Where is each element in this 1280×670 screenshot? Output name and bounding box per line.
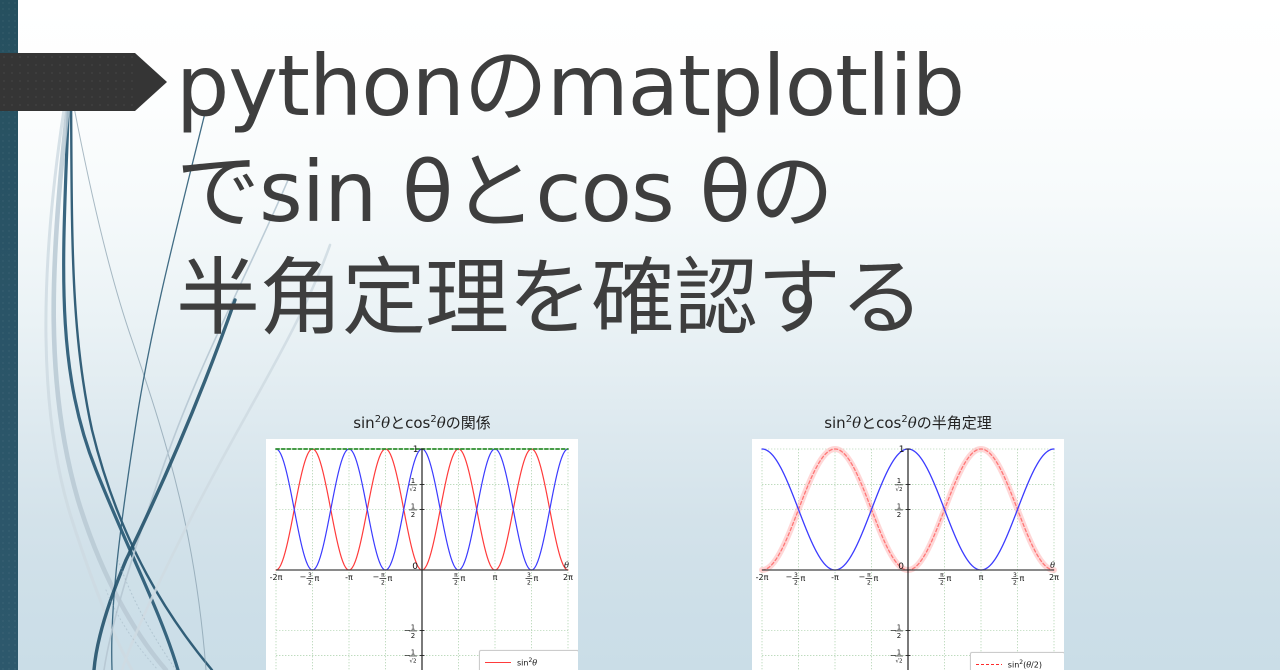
chart-2-title-text: sin2θとcos2θの半角定理	[824, 414, 992, 432]
svg-text:2: 2	[411, 632, 415, 640]
svg-text:1: 1	[411, 648, 415, 656]
svg-text:1: 1	[411, 623, 415, 631]
svg-text:3: 3	[527, 572, 531, 579]
svg-text:2: 2	[897, 511, 901, 519]
svg-text:0: 0	[412, 562, 418, 572]
legend-label-sin2-half: sin2(θ/2)	[1008, 659, 1042, 670]
page-title-line-2: でsin θとcos θの	[176, 140, 1206, 246]
svg-text:1: 1	[411, 477, 415, 485]
svg-text:π: π	[454, 572, 458, 579]
page-title: pythonのmatplotlib でsin θとcos θの 半角定理を確認す…	[176, 34, 1206, 351]
svg-text:√2: √2	[895, 657, 902, 664]
svg-text:1: 1	[897, 477, 901, 485]
chart-1-plot-area: -2π−32π-π−π2ππ2ππ32π2π-1−1√2−120121√21θ …	[266, 439, 578, 670]
svg-text:2: 2	[411, 511, 415, 519]
svg-text:-π: -π	[831, 573, 839, 582]
svg-text:π: π	[873, 574, 878, 583]
svg-text:−: −	[785, 573, 792, 582]
chart-1-title: sin2θとcos2θの関係	[266, 412, 578, 433]
svg-text:√2: √2	[409, 486, 416, 493]
svg-text:2: 2	[381, 580, 385, 587]
svg-text:π: π	[387, 574, 392, 583]
legend-item: sin2(θ/2)	[976, 658, 1057, 670]
svg-text:π: π	[381, 572, 385, 579]
chart-2-plot-area: -2π−32π-π−π2ππ2ππ32π2π-1−1√2−120121√21θ …	[752, 439, 1064, 670]
svg-text:π: π	[533, 574, 538, 583]
svg-text:-2π: -2π	[270, 573, 283, 582]
svg-text:0: 0	[898, 562, 904, 572]
chart-1-title-text: sin2θとcos2θの関係	[353, 414, 491, 432]
svg-text:2π: 2π	[1049, 573, 1059, 582]
svg-text:π: π	[979, 573, 984, 582]
svg-text:θ: θ	[1050, 561, 1055, 570]
svg-text:√2: √2	[409, 657, 416, 664]
svg-text:2π: 2π	[563, 573, 573, 582]
svg-text:1: 1	[897, 648, 901, 656]
svg-text:3: 3	[308, 572, 312, 579]
svg-text:1: 1	[413, 445, 419, 455]
arrow-banner-texture	[0, 53, 135, 111]
svg-text:2: 2	[897, 632, 901, 640]
page-title-line-1: pythonのmatplotlib	[176, 34, 1206, 140]
svg-text:1: 1	[899, 445, 905, 455]
svg-text:π: π	[1019, 574, 1024, 583]
svg-text:π: π	[314, 574, 319, 583]
svg-text:π: π	[867, 572, 871, 579]
svg-text:-π: -π	[345, 573, 353, 582]
svg-text:π: π	[460, 574, 465, 583]
chart-2: sin2θとcos2θの半角定理 -2π−32π-π−π2ππ2ππ32π2π-…	[752, 412, 1064, 670]
svg-text:π: π	[800, 574, 805, 583]
chart-1: sin2θとcos2θの関係 -2π−32π-π−π2ππ2ππ32π2π-1−…	[266, 412, 578, 670]
chart-2-svg: -2π−32π-π−π2ππ2ππ32π2π-1−1√2−120121√21θ	[752, 439, 1064, 670]
legend-label-sin2: sin2θ	[517, 657, 537, 668]
svg-text:−: −	[372, 573, 379, 582]
legend-item: sin2θ	[485, 656, 571, 669]
svg-text:√2: √2	[895, 486, 902, 493]
svg-text:π: π	[493, 573, 498, 582]
svg-text:1: 1	[897, 502, 901, 510]
page-title-line-3: 半角定理を確認する	[176, 246, 1206, 352]
chart-2-title: sin2θとcos2θの半角定理	[752, 412, 1064, 433]
legend-key-sin2-half	[976, 660, 1002, 670]
chart-1-legend: sin2θ cos2θ sin2θ + cos2θ	[479, 650, 578, 670]
svg-text:2: 2	[454, 580, 458, 587]
svg-text:3: 3	[794, 572, 798, 579]
svg-text:π: π	[946, 574, 951, 583]
svg-text:2: 2	[1013, 580, 1017, 587]
svg-text:π: π	[940, 572, 944, 579]
svg-text:θ: θ	[564, 561, 569, 570]
arrow-banner	[0, 53, 167, 111]
svg-text:3: 3	[1013, 572, 1017, 579]
legend-key-sin2	[485, 658, 511, 668]
svg-text:1: 1	[897, 623, 901, 631]
svg-text:-2π: -2π	[756, 573, 769, 582]
svg-text:2: 2	[308, 580, 312, 587]
arrow-banner-body	[0, 53, 135, 111]
svg-text:2: 2	[940, 580, 944, 587]
chart-2-legend: sin2(θ/2) (1 − cosθ)/2 cos2(θ/2)	[970, 652, 1064, 670]
svg-text:2: 2	[867, 580, 871, 587]
chart-1-svg: -2π−32π-π−π2ππ2ππ32π2π-1−1√2−120121√21θ	[266, 439, 578, 670]
slide-canvas: pythonのmatplotlib でsin θとcos θの 半角定理を確認す…	[0, 0, 1280, 670]
arrow-banner-head	[135, 53, 167, 111]
svg-text:−: −	[858, 573, 865, 582]
svg-text:2: 2	[794, 580, 798, 587]
svg-text:−: −	[299, 573, 306, 582]
svg-text:2: 2	[527, 580, 531, 587]
svg-text:1: 1	[411, 502, 415, 510]
